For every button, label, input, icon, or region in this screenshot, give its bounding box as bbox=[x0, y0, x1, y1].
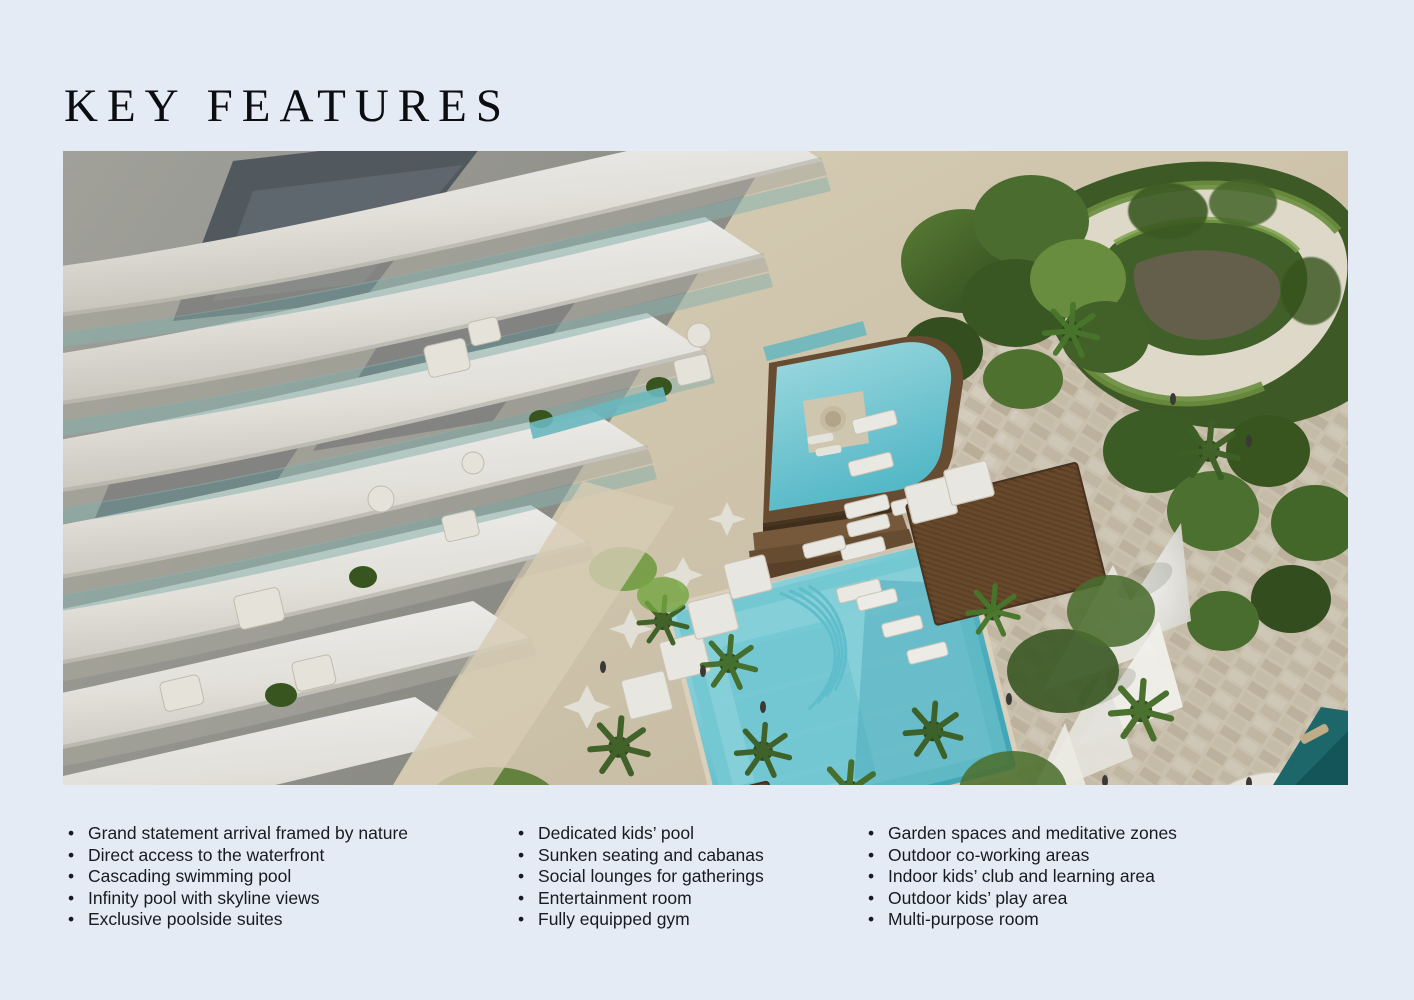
list-item-label: Garden spaces and meditative zones bbox=[888, 823, 1177, 843]
list-item: • Sunken seating and cabanas bbox=[510, 845, 860, 867]
feature-list-1: • Grand statement arrival framed by natu… bbox=[60, 823, 510, 931]
bullet-icon: • bbox=[868, 888, 874, 910]
list-item: • Cascading swimming pool bbox=[60, 866, 510, 888]
bullet-icon: • bbox=[68, 823, 74, 845]
list-item: • Exclusive poolside suites bbox=[60, 909, 510, 931]
key-features-list: • Grand statement arrival framed by natu… bbox=[60, 823, 1360, 931]
list-item-label: Outdoor co-working areas bbox=[888, 845, 1089, 865]
list-item: • Entertainment room bbox=[510, 888, 860, 910]
aerial-render-illustration bbox=[63, 151, 1348, 785]
list-item: • Indoor kids’ club and learning area bbox=[860, 866, 1310, 888]
page-title: KEY FEATURES bbox=[64, 83, 511, 130]
list-item-label: Grand statement arrival framed by nature bbox=[88, 823, 408, 843]
bullet-icon: • bbox=[68, 888, 74, 910]
bullet-icon: • bbox=[868, 845, 874, 867]
list-item-label: Infinity pool with skyline views bbox=[88, 888, 319, 908]
list-item-label: Outdoor kids’ play area bbox=[888, 888, 1067, 908]
bullet-icon: • bbox=[518, 866, 524, 888]
bullet-icon: • bbox=[68, 909, 74, 931]
list-item: • Grand statement arrival framed by natu… bbox=[60, 823, 510, 845]
features-column-2: • Dedicated kids’ pool • Sunken seating … bbox=[510, 823, 860, 931]
bullet-icon: • bbox=[868, 823, 874, 845]
bullet-icon: • bbox=[518, 909, 524, 931]
list-item: • Direct access to the waterfront bbox=[60, 845, 510, 867]
list-item: • Fully equipped gym bbox=[510, 909, 860, 931]
list-item-label: Social lounges for gatherings bbox=[538, 866, 764, 886]
features-column-1: • Grand statement arrival framed by natu… bbox=[60, 823, 510, 931]
list-item: • Outdoor kids’ play area bbox=[860, 888, 1310, 910]
list-item: • Multi-purpose room bbox=[860, 909, 1310, 931]
list-item-label: Dedicated kids’ pool bbox=[538, 823, 694, 843]
list-item-label: Sunken seating and cabanas bbox=[538, 845, 764, 865]
list-item: • Social lounges for gatherings bbox=[510, 866, 860, 888]
list-item-label: Fully equipped gym bbox=[538, 909, 690, 929]
bullet-icon: • bbox=[518, 823, 524, 845]
bullet-icon: • bbox=[518, 845, 524, 867]
list-item-label: Exclusive poolside suites bbox=[88, 909, 283, 929]
bullet-icon: • bbox=[868, 909, 874, 931]
list-item-label: Entertainment room bbox=[538, 888, 692, 908]
hero-image bbox=[63, 151, 1348, 785]
list-item: • Outdoor co-working areas bbox=[860, 845, 1310, 867]
feature-list-2: • Dedicated kids’ pool • Sunken seating … bbox=[510, 823, 860, 931]
list-item: • Dedicated kids’ pool bbox=[510, 823, 860, 845]
bullet-icon: • bbox=[868, 866, 874, 888]
list-item-label: Cascading swimming pool bbox=[88, 866, 291, 886]
list-item-label: Direct access to the waterfront bbox=[88, 845, 324, 865]
list-item: • Infinity pool with skyline views bbox=[60, 888, 510, 910]
list-item-label: Multi-purpose room bbox=[888, 909, 1039, 929]
feature-list-3: • Garden spaces and meditative zones • O… bbox=[860, 823, 1310, 931]
list-item-label: Indoor kids’ club and learning area bbox=[888, 866, 1155, 886]
bullet-icon: • bbox=[68, 845, 74, 867]
features-column-3: • Garden spaces and meditative zones • O… bbox=[860, 823, 1310, 931]
bullet-icon: • bbox=[518, 888, 524, 910]
list-item: • Garden spaces and meditative zones bbox=[860, 823, 1310, 845]
bullet-icon: • bbox=[68, 866, 74, 888]
